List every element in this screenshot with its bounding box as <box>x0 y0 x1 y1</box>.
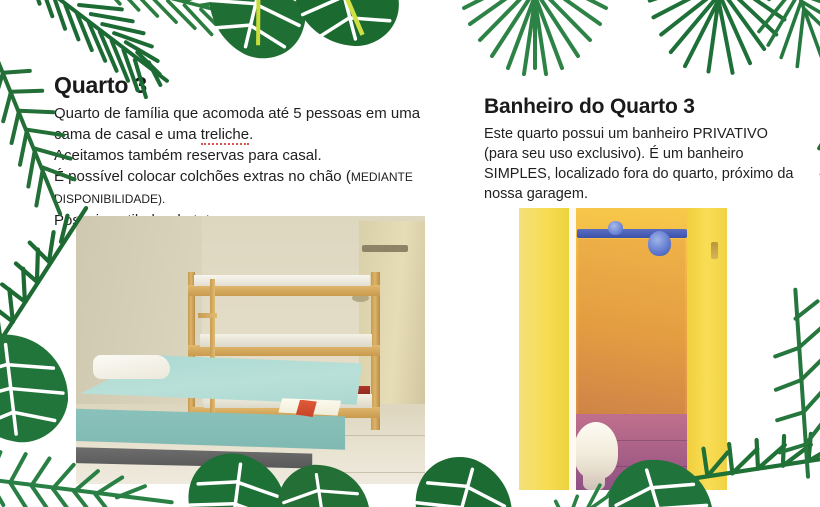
palm-frond-icon <box>722 0 820 100</box>
bathroom-photo-content <box>519 208 727 490</box>
door-jamb-right <box>687 208 727 490</box>
left-line-1: Quarto de família que acomoda até 5 pess… <box>54 103 444 124</box>
availability-note-1: MEDIANTE <box>351 170 413 184</box>
palm-frond-icon <box>430 0 640 82</box>
door-jamb-left <box>519 208 569 490</box>
slide-canvas: Quarto 3 Quarto de família que acomoda a… <box>0 0 820 507</box>
door-handle-icon <box>362 245 407 252</box>
floor-tile-line <box>625 414 626 415</box>
left-line-5: DISPONIBILIDADE). <box>54 188 444 210</box>
wall-hook-icon <box>711 242 717 259</box>
right-line-4: nossa garagem. <box>484 184 804 204</box>
left-line-2: cama de casal e uma treliche. <box>54 124 444 145</box>
availability-note-2: DISPONIBILIDADE <box>54 192 158 206</box>
left-text-column: Quarto 3 Quarto de família que acomoda a… <box>54 72 444 231</box>
bedroom-photo-content <box>76 216 425 484</box>
bunk-rail-top <box>188 285 380 296</box>
right-body-text: Este quarto possui um banheiro PRIVATIVO… <box>484 124 804 204</box>
right-heading: Banheiro do Quarto 3 <box>484 94 804 119</box>
bunk-ladder-step <box>198 313 218 318</box>
right-line-1: Este quarto possui um banheiro PRIVATIVO <box>484 124 804 144</box>
palm-frond-icon <box>607 0 820 101</box>
left-body-text: Quarto de família que acomoda até 5 pess… <box>54 103 444 231</box>
monstera-leaf-icon <box>273 0 419 68</box>
bathroom-photo <box>519 208 727 490</box>
shower-head-icon <box>648 231 671 256</box>
misspelled-word: treliche <box>201 126 249 145</box>
right-text-column: Banheiro do Quarto 3 Este quarto possui … <box>484 94 804 204</box>
bunk-mattress-middle <box>200 334 372 347</box>
door-frame-gap <box>569 208 576 490</box>
shower-knob-icon <box>608 221 623 235</box>
monstera-leaf-icon <box>0 322 86 459</box>
bedroom-photo <box>76 216 425 484</box>
monstera-leaf-icon <box>186 0 326 73</box>
pillow <box>93 355 170 379</box>
toilet-base <box>583 467 605 490</box>
right-line-2: (para seu uso exclusivo). É um banheiro <box>484 144 804 164</box>
left-heading: Quarto 3 <box>54 72 444 99</box>
left-line-4: É possível colocar colchões extras no ch… <box>54 166 444 188</box>
bathroom-interior <box>576 208 687 490</box>
right-line-3: SIMPLES, localizado fora do quarto, próx… <box>484 164 804 184</box>
bed-base <box>76 445 333 472</box>
shower-pipe <box>577 229 687 237</box>
left-line-3: Aceitamos também reservas para casal. <box>54 145 444 166</box>
interior-wall <box>578 239 685 414</box>
bunk-mattress-top <box>194 275 370 286</box>
